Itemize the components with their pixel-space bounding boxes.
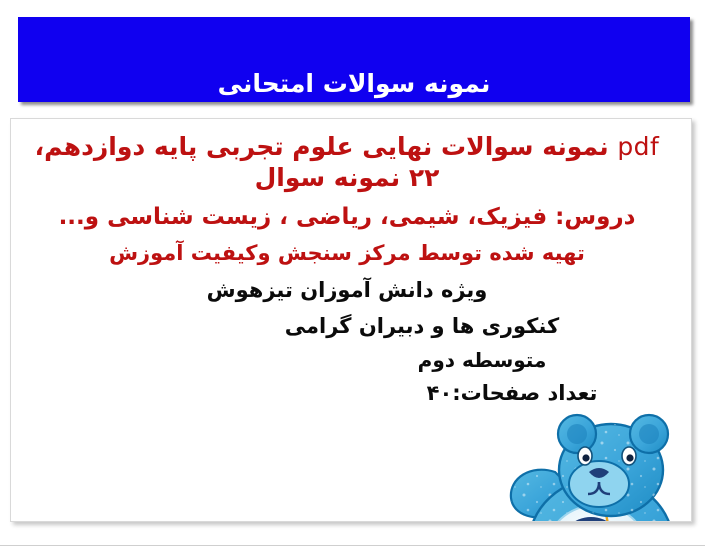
content-line-2: ۲۲ نمونه سوال <box>29 164 665 193</box>
content-line-4: تهیه شده توسط مرکز سنجش وکیفیت آموزش <box>29 242 665 266</box>
content-text-block: pdf نمونه سوالات نهایی علوم تجربی پایه د… <box>11 119 691 406</box>
content-line-6: کنکوری ها و دبیران گرامی <box>29 315 665 339</box>
title-banner: نمونه سوالات امتحانی <box>18 17 690 102</box>
page-title: نمونه سوالات امتحانی <box>218 70 491 98</box>
content-card: pdf نمونه سوالات نهایی علوم تجربی پایه د… <box>10 118 692 522</box>
content-line-1-persian: نمونه سوالات نهایی علوم تجربی پایه دوازد… <box>35 132 609 161</box>
content-line-8: تعداد صفحات:۴۰ <box>29 382 665 406</box>
content-line-7: متوسطه دوم <box>29 349 665 372</box>
content-line-5: ویژه دانش آموزان تیزهوش <box>29 279 665 303</box>
bottom-divider <box>0 545 705 546</box>
content-line-1-latin: pdf <box>617 132 659 161</box>
content-line-1: pdf نمونه سوالات نهایی علوم تجربی پایه د… <box>29 133 665 162</box>
blue-care-bear-icon <box>493 412 692 522</box>
content-line-3: دروس: فیزیک، شیمی، ریاضی ، زیست شناسی و.… <box>29 204 665 230</box>
